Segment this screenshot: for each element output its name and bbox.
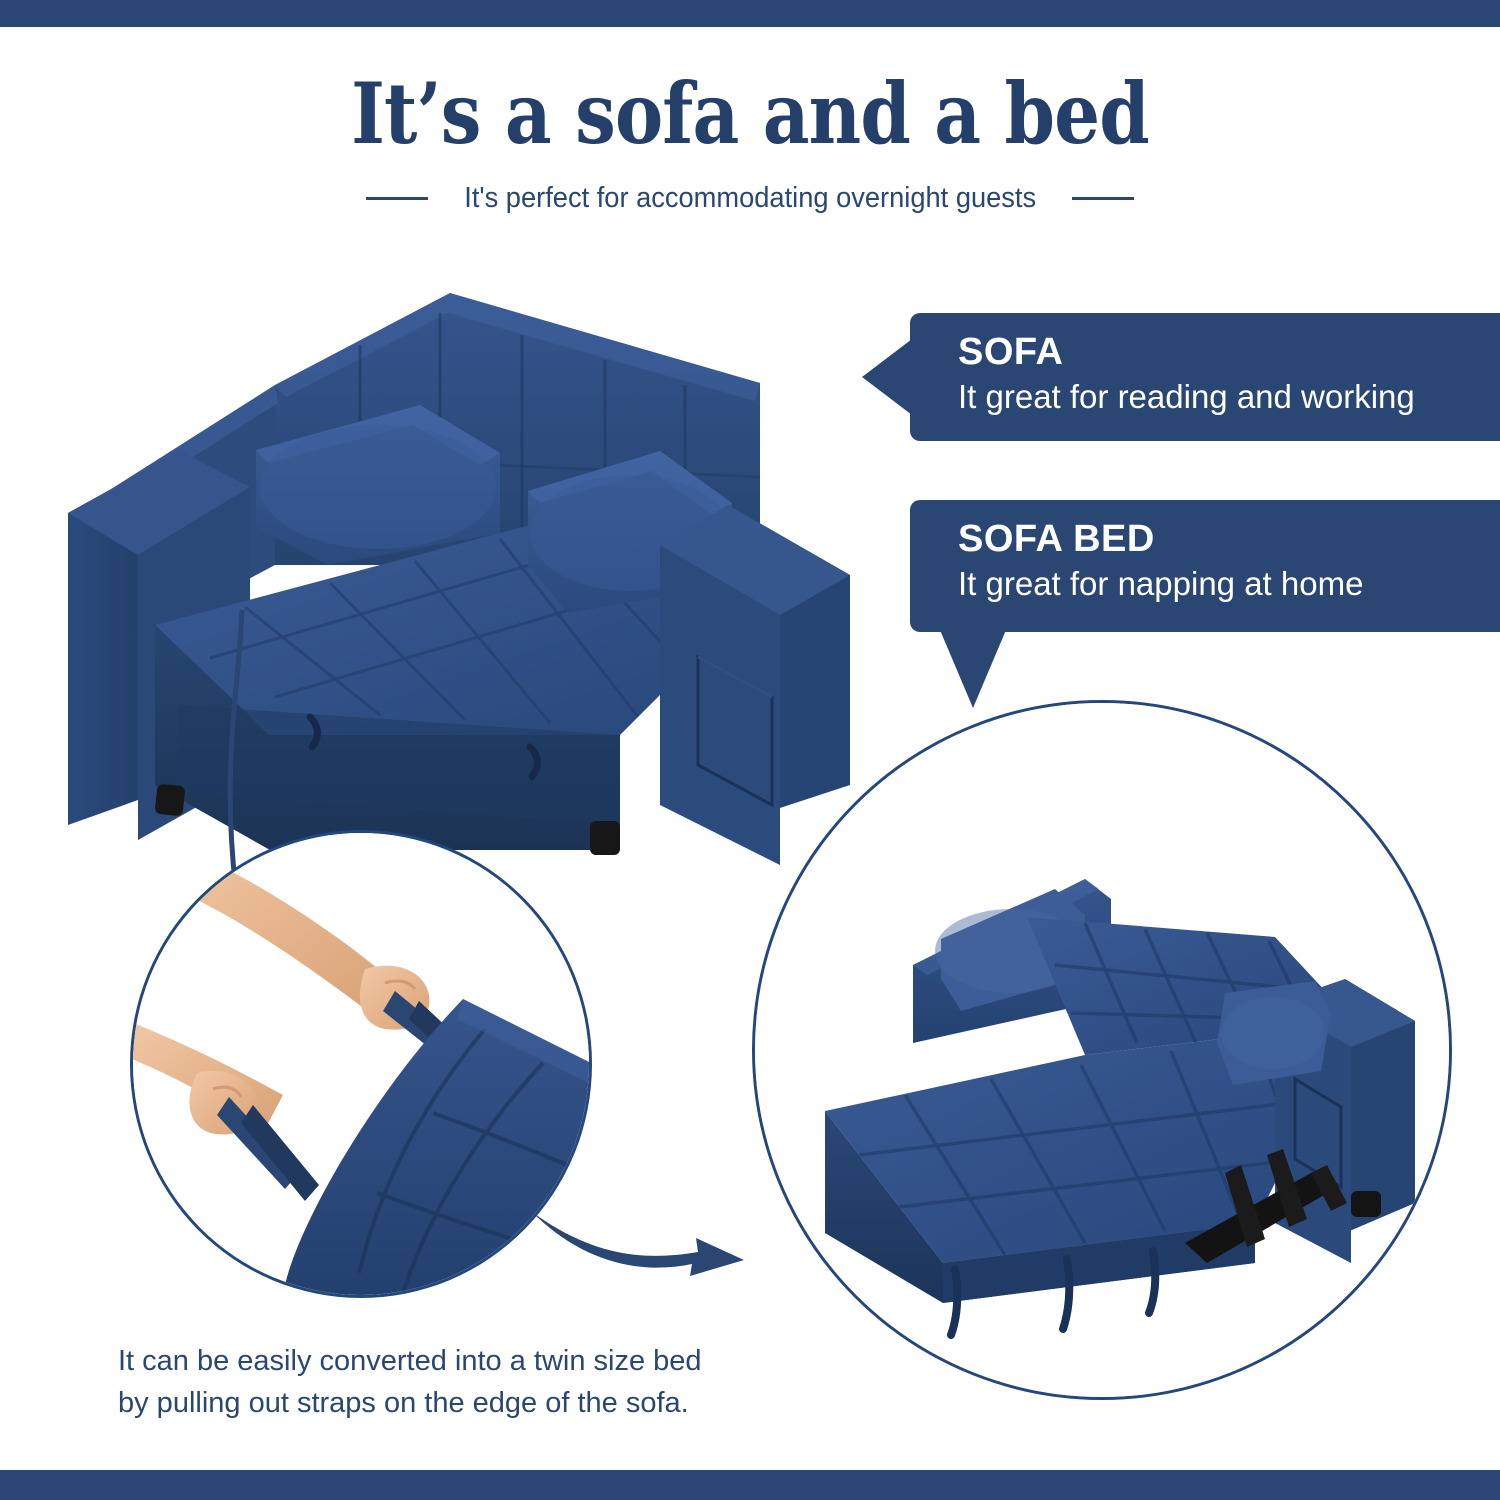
rule-left-icon — [366, 197, 428, 200]
bottom-accent-bar — [0, 1470, 1500, 1500]
sofa-badge-tail-icon — [862, 339, 912, 415]
rule-right-icon — [1072, 197, 1134, 200]
sofa-bed-badge-tail-icon — [940, 630, 1006, 708]
page-subtitle: It's perfect for accommodating overnight… — [464, 182, 1036, 215]
caption-line-1: It can be easily converted into a twin s… — [118, 1345, 702, 1377]
caption-line-2: by pulling out straps on the edge of the… — [118, 1387, 689, 1419]
inset-sofa-bed-illustration — [755, 703, 1452, 1400]
conversion-caption: It can be easily converted into a twin s… — [118, 1340, 702, 1424]
page-title: It’s a sofa and a bed — [105, 66, 1395, 162]
subtitle-row: It's perfect for accommodating overnight… — [0, 182, 1500, 215]
callout-sofa-subtitle: It great for reading and working — [958, 375, 1500, 419]
inset-strap-circle — [130, 830, 592, 1298]
callout-sofa-title: SOFA — [958, 329, 1500, 375]
callout-sofa-bed: SOFA BED It great for napping at home — [910, 500, 1500, 632]
top-accent-bar — [0, 0, 1500, 27]
callout-sofa-bed-title: SOFA BED — [958, 516, 1500, 562]
inset-sofa-bed-circle — [752, 700, 1452, 1400]
transform-arrow-icon — [530, 1190, 750, 1280]
main-sofa-photo — [60, 265, 860, 865]
callout-sofa: SOFA It great for reading and working — [910, 313, 1500, 441]
callout-sofa-bed-subtitle: It great for napping at home — [958, 562, 1500, 606]
inset-strap-illustration — [133, 833, 592, 1298]
